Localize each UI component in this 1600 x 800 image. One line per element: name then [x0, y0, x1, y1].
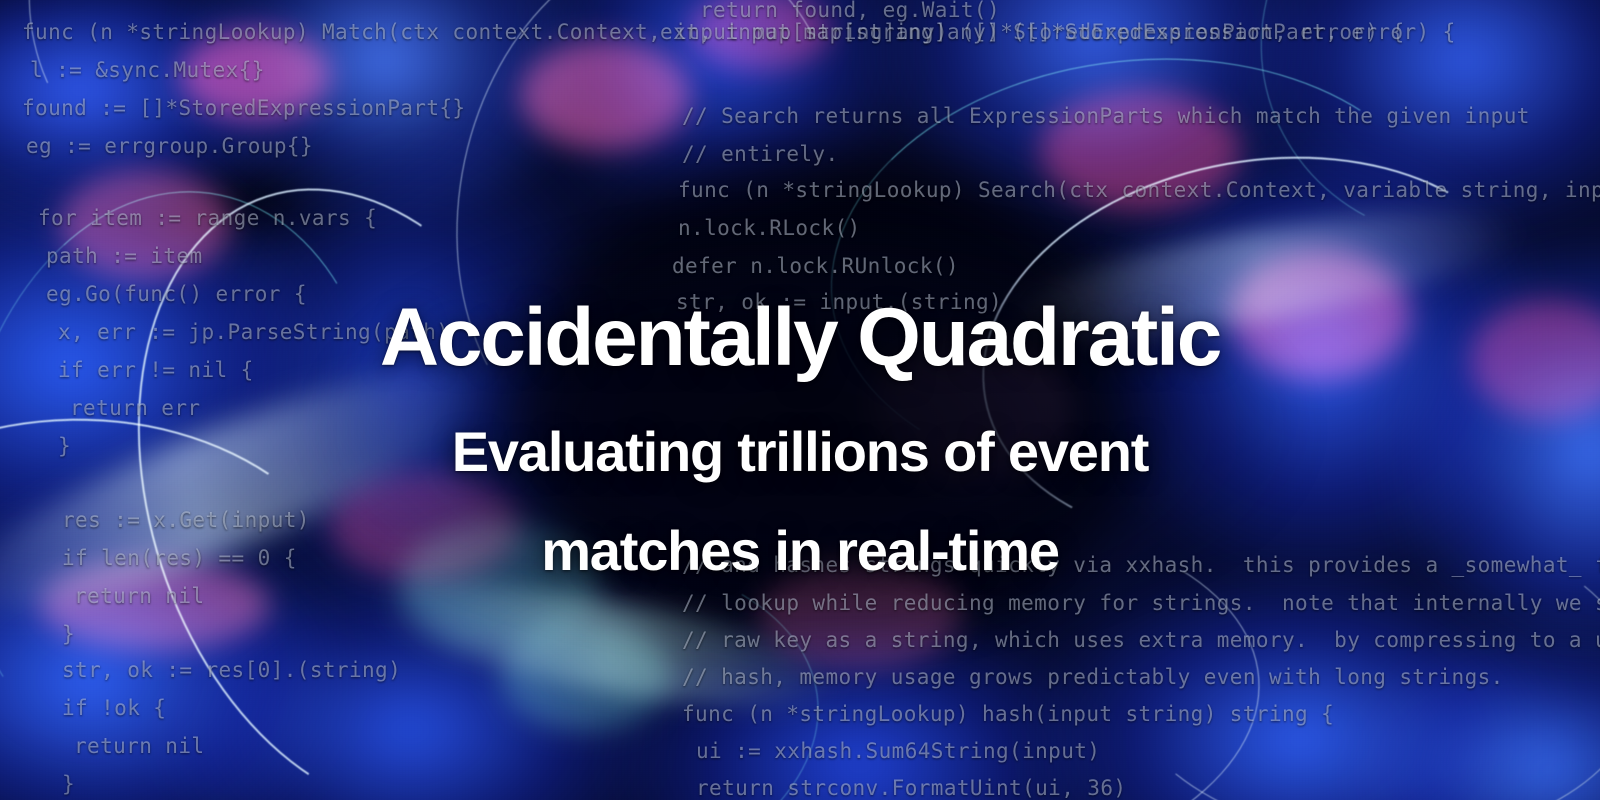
page-title: Accidentally Quadratic — [380, 296, 1220, 380]
headline-block: Accidentally Quadratic Evaluating trilli… — [0, 296, 1600, 601]
subtitle-line-1: Evaluating trillions of event — [452, 402, 1148, 502]
subtitle-line-2: matches in real-time — [452, 501, 1148, 601]
page-subtitle: Evaluating trillions of event matches in… — [452, 402, 1148, 601]
banner-image: func (n *stringLookup) Match(ctx context… — [0, 0, 1600, 800]
